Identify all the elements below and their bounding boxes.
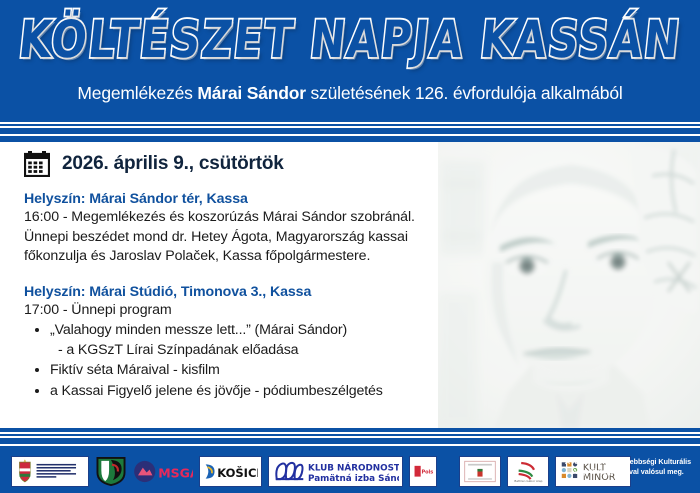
klub-narodnostnych-mensin-logo: KLUB NÁRODNOSTNÝCH MENŠÍN Pamätná izba S… <box>268 456 403 487</box>
calendar-icon <box>24 150 50 177</box>
subtitle: Megemlékezés Márai Sándor születésének 1… <box>0 82 700 104</box>
svg-text:MSGA: MSGA <box>158 465 193 480</box>
hungary-coat-of-arms-icon <box>15 458 85 486</box>
list-item: „Valahogy minden messze lett...” (Márai … <box>50 321 428 360</box>
event-date: 2026. április 9., csütörtök <box>62 153 284 175</box>
bethlen-icon: Bethlen Gábor Alap <box>511 458 545 485</box>
svg-text:Polska: Polska <box>421 469 433 475</box>
city-shield-icon <box>95 457 127 486</box>
subtitle-name: Márai Sándor <box>197 83 305 103</box>
program-item-text: „Valahogy minden messze lett...” (Márai … <box>50 322 347 338</box>
page-title: KÖLTÉSZET NAPJA KASSÁN <box>16 6 685 74</box>
venue-description-2: 17:00 - Ünnepi program <box>24 301 428 321</box>
subtitle-suffix: születésének 126. évfordulója alkalmából <box>306 83 623 103</box>
svg-text:KOŠICE: KOŠICE <box>217 465 258 480</box>
poster-body: 2026. április 9., csütörtök Helyszín: Má… <box>0 142 700 428</box>
msga-logo: MSGA <box>133 456 193 487</box>
program-item-text: a Kassai Figyelő jelene és jövője - pódi… <box>50 383 383 399</box>
venue-description-1: 16:00 - Megemlékezés és koszorúzás Márai… <box>24 208 428 267</box>
polska-logo: Polska <box>409 456 437 487</box>
event-block-2: Helyszín: Márai Stúdió, Timonova 3., Kas… <box>24 284 428 402</box>
msga-icon: MSGA <box>133 459 193 484</box>
venue-label-1: Helyszín: Márai Sándor tér, Kassa <box>24 191 428 207</box>
institute-icon <box>463 458 497 485</box>
hungary-coat-of-arms-logo <box>11 456 89 487</box>
venue-label-2: Helyszín: Márai Stúdió, Timonova 3., Kas… <box>24 284 428 300</box>
event-block-1: Helyszín: Márai Sándor tér, Kassa 16:00 … <box>24 191 428 267</box>
portrait-photo <box>438 142 700 428</box>
poster-footer: MSGA KOŠICE <box>0 452 700 493</box>
poster-root: KÖLTÉSZET NAPJA KASSÁN Megemlékezés Mára… <box>0 0 700 493</box>
kosice-logo: KOŠICE <box>199 456 262 487</box>
sponsor-logos: MSGA KOŠICE <box>11 456 631 487</box>
klub-icon: KLUB NÁRODNOSTNÝCH MENŠÍN Pamätná izba S… <box>272 458 399 485</box>
divider-stripes-top <box>0 118 700 142</box>
poster-header: KÖLTÉSZET NAPJA KASSÁN Megemlékezés Mára… <box>0 0 700 118</box>
program-list: „Valahogy minden messze lett...” (Márai … <box>50 321 428 401</box>
program-item-text: Fiktív séta Máraival - kisfilm <box>50 362 220 378</box>
institute-logo <box>459 456 501 487</box>
kosice-icon: KOŠICE <box>203 461 258 482</box>
event-details: 2026. április 9., csütörtök Helyszín: Má… <box>24 150 428 402</box>
list-item: a Kassai Figyelő jelene és jövője - pódi… <box>50 382 428 402</box>
subtitle-prefix: Megemlékezés <box>77 83 197 103</box>
svg-text:Bethlen Gábor Alap: Bethlen Gábor Alap <box>514 479 542 483</box>
svg-text:Pamätná izba Sándora Máraiho: Pamätná izba Sándora Máraiho <box>308 474 399 484</box>
funding-credit: A rendezvény a Kisebbségi Kulturális Ala… <box>564 457 692 476</box>
divider-stripes-bottom <box>0 428 700 452</box>
bethlen-gabor-alap-logo: Bethlen Gábor Alap <box>507 456 549 487</box>
program-item-subtext: - a KGSzT Lírai Színpadának előadása <box>50 341 428 361</box>
date-row: 2026. április 9., csütörtök <box>24 150 428 177</box>
block-spacer <box>24 267 428 284</box>
title-container: KÖLTÉSZET NAPJA KASSÁN <box>0 12 700 68</box>
portrait-illustration <box>438 142 700 428</box>
list-item: Fiktív séta Máraival - kisfilm <box>50 361 428 381</box>
kassa-city-emblem-logo <box>95 456 127 487</box>
polska-icon: Polska <box>413 461 433 483</box>
svg-text:KLUB NÁRODNOSTNÝCH MENŠÍN: KLUB NÁRODNOSTNÝCH MENŠÍN <box>308 462 399 474</box>
